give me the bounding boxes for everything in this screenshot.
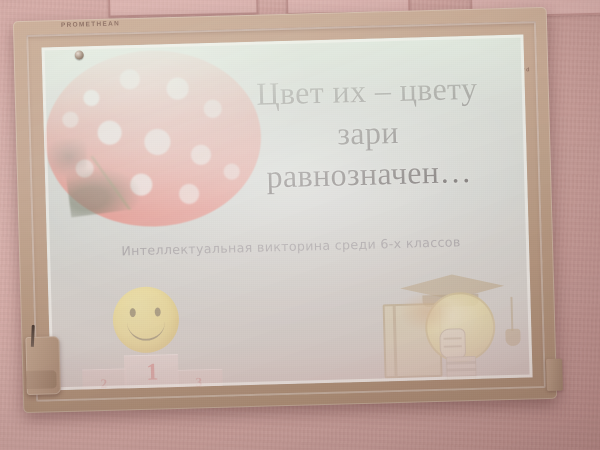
- wall-lighting-gradient: [0, 0, 600, 450]
- classroom-photo-scene: PROMETHEAN ACTIVboard Цвет их – цвету за…: [0, 0, 600, 450]
